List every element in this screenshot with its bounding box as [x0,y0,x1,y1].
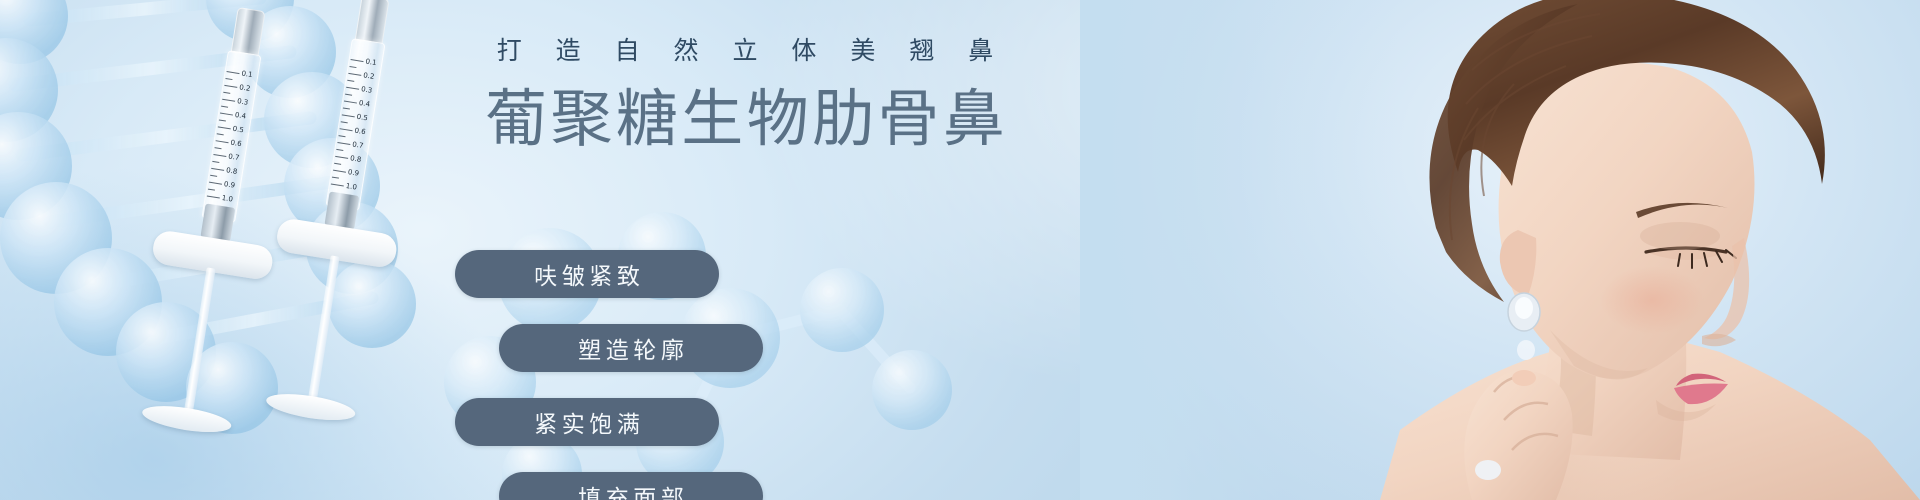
feature-pill-facial-filling[interactable]: 填充面部 [499,472,763,500]
portrait-left-fade [1080,0,1920,500]
headline-block: 打 造 自 然 立 体 美 翘 鼻 葡聚糖生物肋骨鼻 [455,38,1035,154]
banner-subtitle: 打 造 自 然 立 体 美 翘 鼻 [455,38,1035,63]
feature-pill-wrinkle-firming[interactable]: 呋皱紧致 [455,250,719,298]
feature-pill-firm-plump[interactable]: 紧实饱满 [455,398,719,446]
feature-pill-group: 呋皱紧致 塑造轮廓 紧实饱满 填充面部 [455,250,1035,500]
promo-banner: 0.1 0.2 0.3 0.4 0.5 0.6 0.7 0.8 0.9 1.0 [0,0,1920,500]
banner-title: 葡聚糖生物肋骨鼻 [455,83,1035,154]
feature-pill-shape-contour[interactable]: 塑造轮廓 [499,324,763,372]
model-portrait-image [1080,0,1920,500]
